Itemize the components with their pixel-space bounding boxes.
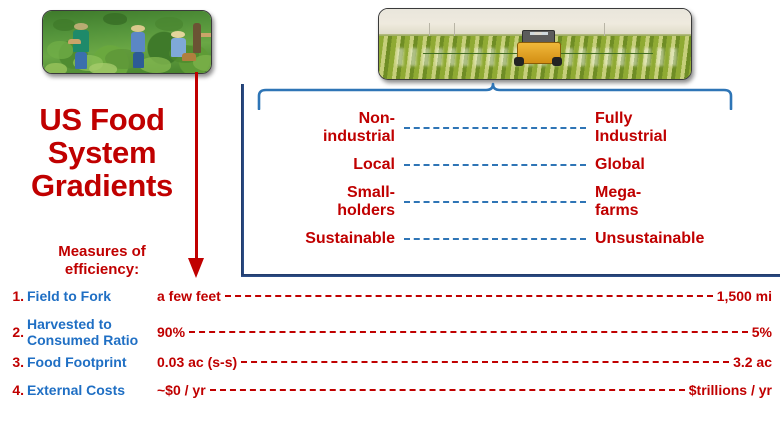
measure-number: 2. (6, 324, 27, 340)
gradient-dashed-connector (404, 127, 586, 129)
gradient-row: Sustainable Unsustainable (255, 230, 735, 248)
measure-end-value: 5% (752, 324, 780, 340)
gradient-right-line: Unsustainable (595, 230, 735, 248)
measure-label: External Costs (27, 382, 157, 398)
tractor-wheel (552, 57, 562, 66)
measure-dashed-connector (225, 295, 713, 297)
measure-label-line: Harvested to (27, 316, 157, 332)
measure-dashed-connector (241, 361, 729, 363)
navy-bracket-vertical (241, 84, 244, 277)
measure-number: 3. (6, 354, 27, 370)
gradient-left-line: Sustainable (255, 230, 395, 248)
gradient-right-line: Mega- (595, 184, 735, 202)
measures-list: 1. Field to Fork a few feet 1,500 mi 2. … (0, 288, 780, 438)
measures-heading: Measures of efficiency: (10, 243, 194, 279)
measure-start-value: 90% (157, 324, 185, 340)
smallholder-garden-photo (42, 10, 212, 74)
gradient-left-line: Local (255, 156, 395, 174)
title-line-3: Gradients (4, 169, 200, 202)
gradient-left-label: Sustainable (255, 230, 401, 248)
gradient-row: Local Global (255, 156, 735, 174)
measure-row: 1. Field to Fork a few feet 1,500 mi (0, 288, 780, 304)
title-line-2: System (4, 136, 200, 169)
gradient-left-line: industrial (255, 128, 395, 146)
utility-pole (604, 23, 605, 36)
utility-pole (454, 23, 455, 36)
page-title: US Food System Gradients (4, 103, 200, 202)
gradient-right-label: Unsustainable (589, 230, 735, 248)
arrow-shaft (195, 72, 198, 262)
measure-label: Field to Fork (27, 288, 157, 304)
measure-label-line: Consumed Ratio (27, 332, 157, 348)
gradient-right-label: Global (589, 156, 735, 174)
industrial-sprayer-photo (378, 8, 692, 80)
sprayer-tractor (513, 30, 563, 66)
measure-dashed-connector (189, 331, 748, 333)
measure-dashed-connector (210, 389, 685, 391)
measure-start-value: ~$0 / yr (157, 382, 206, 398)
gradient-right-label: Fully Industrial (589, 110, 735, 146)
utility-pole (429, 23, 430, 36)
gradient-right-line: Fully (595, 110, 735, 128)
measure-row: 4. External Costs ~$0 / yr $trillions / … (0, 382, 780, 398)
measure-label-line: External Costs (27, 382, 157, 398)
slide-canvas: US Food System Gradients Measures of eff… (0, 0, 780, 439)
measure-row: 2. Harvested to Consumed Ratio 90% 5% (0, 316, 780, 348)
gradient-list: Non- industrial Fully Industrial Local G… (255, 108, 735, 273)
arrow-head (188, 258, 204, 278)
gradient-left-line: Non- (255, 110, 395, 128)
gradient-left-label: Local (255, 156, 401, 174)
gradient-row: Small- holders Mega- farms (255, 184, 735, 220)
measure-number: 1. (6, 288, 27, 304)
red-down-arrow (186, 72, 208, 280)
gradient-right-label: Mega- farms (589, 184, 735, 220)
measure-row: 3. Food Footprint 0.03 ac (s-s) 3.2 ac (0, 354, 780, 370)
gradient-right-line: farms (595, 202, 735, 220)
navy-bracket-horizontal (241, 274, 780, 277)
measure-end-value: 1,500 mi (717, 288, 780, 304)
gradient-dashed-connector (404, 201, 586, 203)
title-line-1: US Food (4, 103, 200, 136)
measure-label: Food Footprint (27, 354, 157, 370)
gradient-dashed-connector (404, 164, 586, 166)
measure-label: Harvested to Consumed Ratio (27, 316, 157, 348)
gradient-left-line: Small- (255, 184, 395, 202)
measure-label-line: Food Footprint (27, 354, 157, 370)
gradient-left-label: Non- industrial (255, 110, 401, 146)
measure-start-value: 0.03 ac (s-s) (157, 354, 237, 370)
measures-heading-line-2: efficiency: (10, 261, 194, 279)
tractor-wheel (514, 57, 524, 66)
measure-label-line: Field to Fork (27, 288, 157, 304)
gradient-left-label: Small- holders (255, 184, 401, 220)
blue-curly-brace (255, 82, 735, 110)
measure-end-value: $trillions / yr (689, 382, 780, 398)
gradient-left-line: holders (255, 202, 395, 220)
gradient-right-line: Global (595, 156, 735, 174)
measure-number: 4. (6, 382, 27, 398)
gradient-row: Non- industrial Fully Industrial (255, 110, 735, 146)
measures-heading-line-1: Measures of (10, 243, 194, 261)
measure-start-value: a few feet (157, 288, 221, 304)
measure-end-value: 3.2 ac (733, 354, 780, 370)
gradient-dashed-connector (404, 238, 586, 240)
gradient-right-line: Industrial (595, 128, 735, 146)
garden-workers (43, 11, 211, 73)
